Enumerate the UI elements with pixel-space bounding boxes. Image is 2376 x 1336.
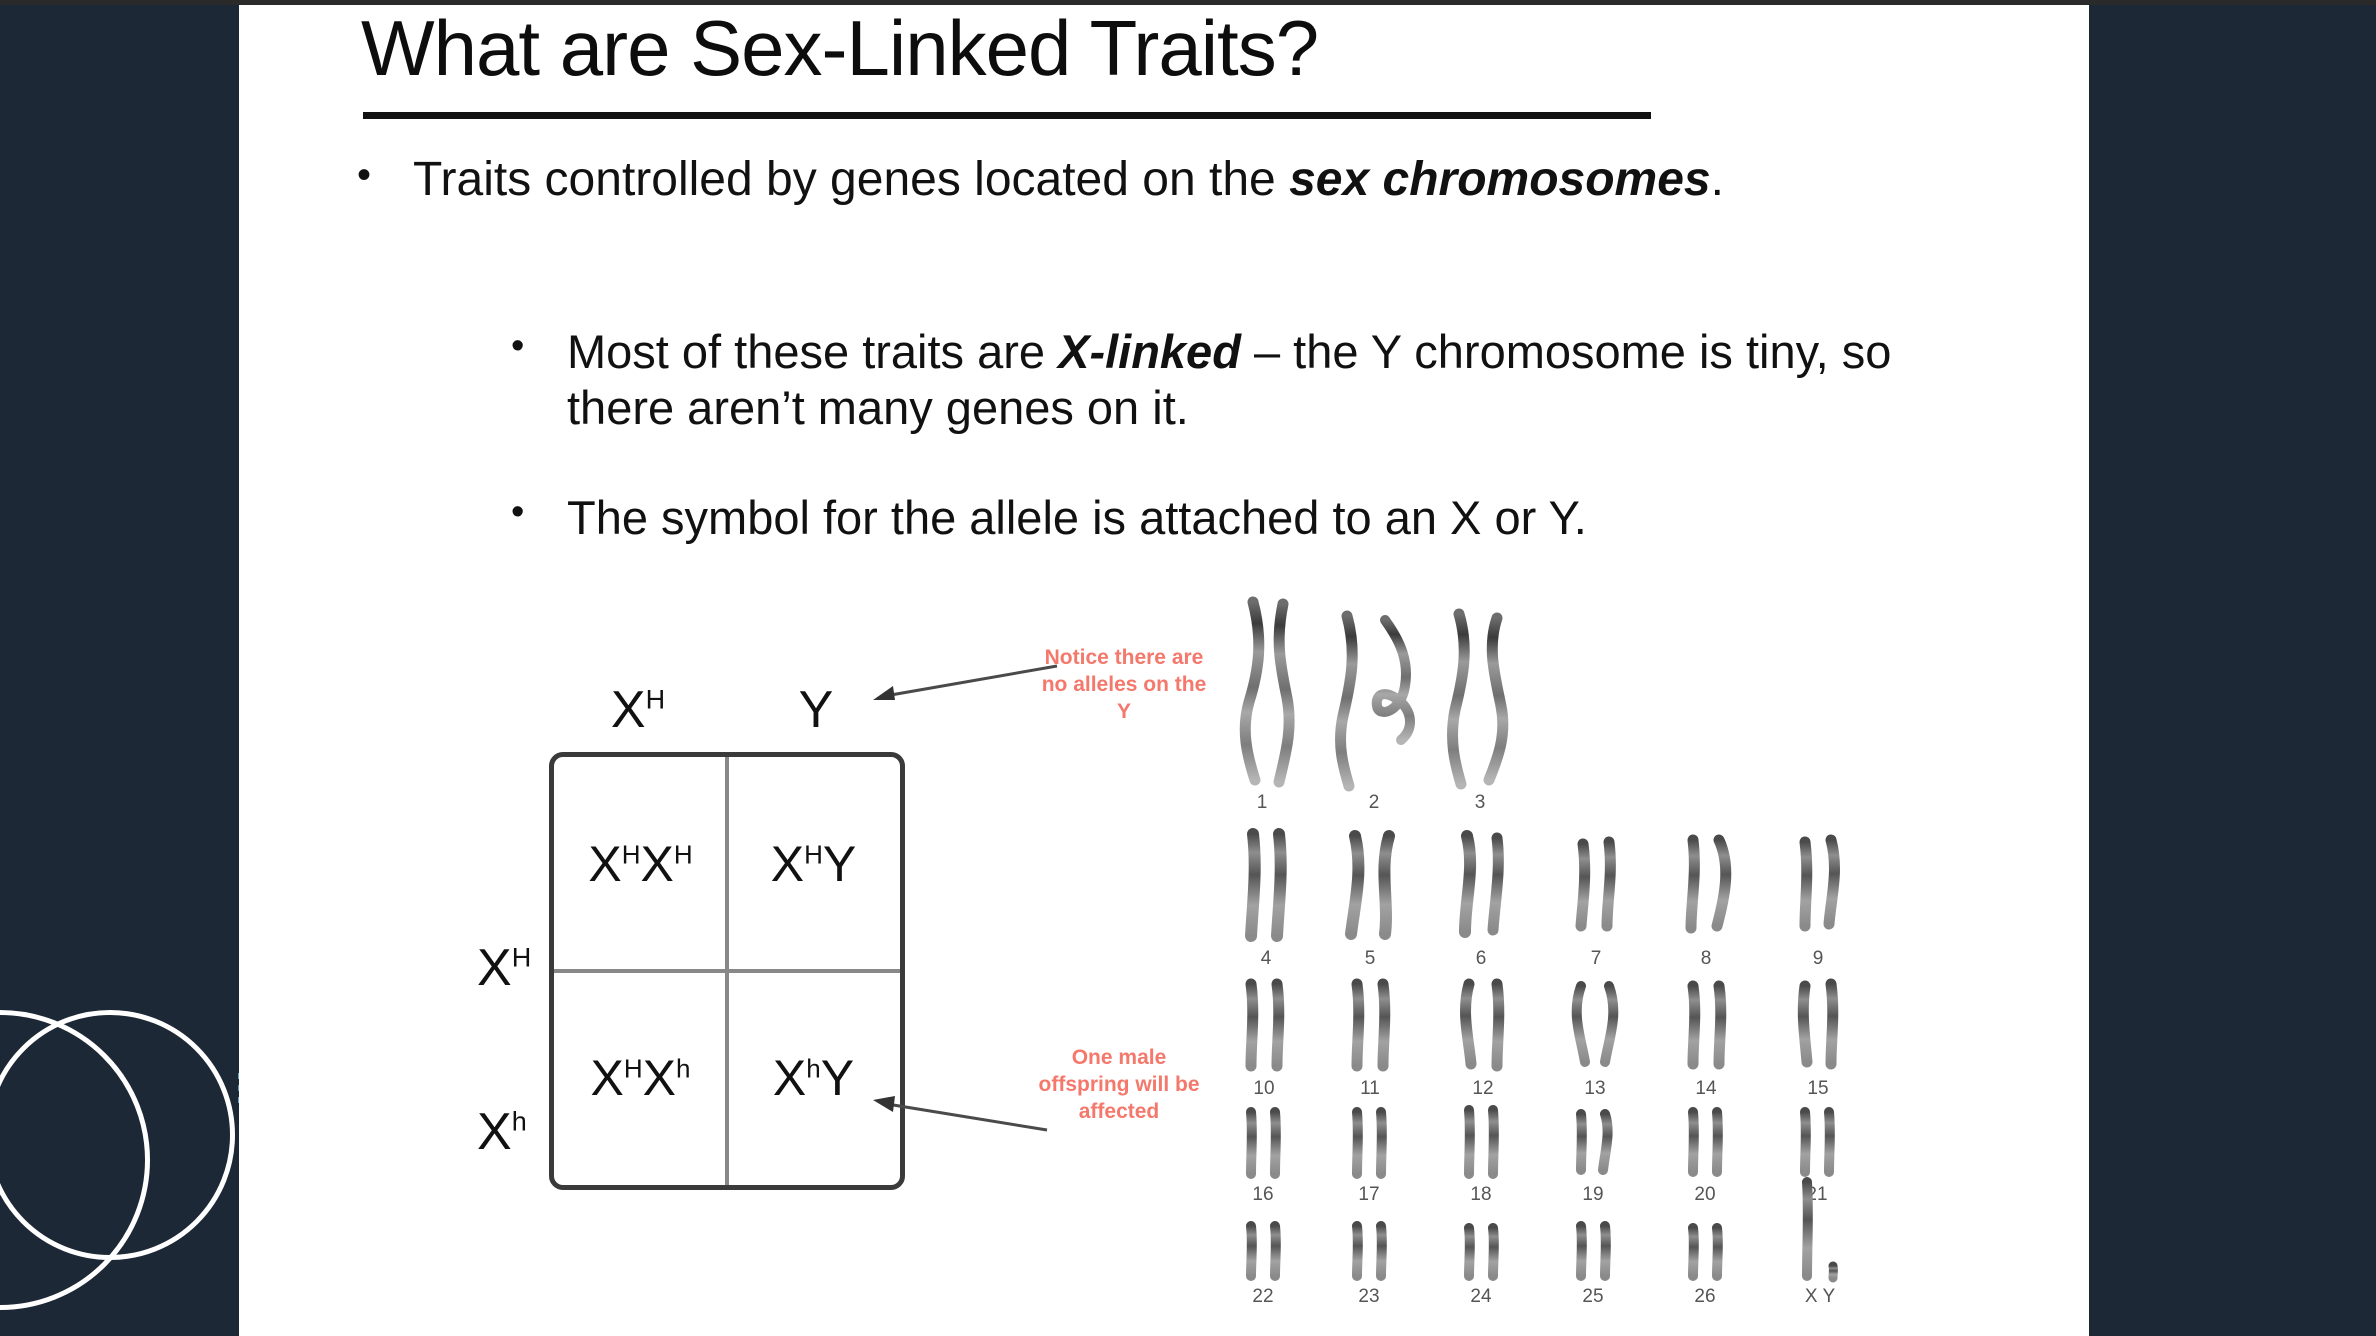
bullet2-part-pre: Most of these traits are xyxy=(567,325,1058,378)
bullet-level2-first-text: Most of these traits are X-linked – the … xyxy=(567,324,1931,437)
row1-base: X xyxy=(477,1103,512,1161)
svg-text:4: 4 xyxy=(1261,948,1272,969)
punnett-cell-0-0: XHXH xyxy=(554,757,727,971)
svg-text:15: 15 xyxy=(1807,1078,1828,1099)
svg-text:20: 20 xyxy=(1694,1184,1715,1205)
svg-text:23: 23 xyxy=(1358,1286,1379,1307)
cell01-g1-base: X xyxy=(771,836,804,892)
col0-base: X xyxy=(611,681,646,739)
svg-text:X Y: X Y xyxy=(1805,1286,1836,1307)
annotation-arrow-to-male-offspring-icon xyxy=(869,1090,1049,1140)
bullet-level2-second: • The symbol for the allele is attached … xyxy=(511,490,1931,546)
annotation-no-alleles-on-y: Notice there are no alleles on the Y xyxy=(1039,645,1209,726)
cell01-g1-superscript: H xyxy=(804,839,823,869)
svg-text:14: 14 xyxy=(1695,1078,1717,1099)
svg-text:2: 2 xyxy=(1369,792,1380,813)
bullet-marker-icon: • xyxy=(357,152,371,199)
col0-superscript: H xyxy=(646,685,666,715)
cell00-g2-superscript: H xyxy=(674,839,693,869)
annotation-arrow-to-y-icon xyxy=(869,660,1059,710)
punnett-cell-1-0: XHXh xyxy=(554,971,727,1185)
punnett-square-diagram: XH Y XH Xh XHXH XHY XH xyxy=(249,610,949,1230)
cell11-g2-base: Y xyxy=(821,1050,854,1106)
cell00-g1-base: X xyxy=(588,836,621,892)
row0-base: X xyxy=(477,939,512,997)
annotation-one-male-affected: One male offspring will be affected xyxy=(1034,1045,1204,1126)
svg-text:18: 18 xyxy=(1470,1184,1491,1205)
bullet1-part-emphasis: sex chromosomes xyxy=(1289,153,1711,206)
slide-canvas: What are Sex-Linked Traits? • Traits con… xyxy=(239,0,2089,1336)
cell10-g1-superscript: H xyxy=(624,1053,643,1083)
punnett-row-header-0: XH xyxy=(477,938,531,998)
cell11-g1-base: X xyxy=(773,1050,806,1106)
svg-text:26: 26 xyxy=(1694,1286,1715,1307)
svg-text:17: 17 xyxy=(1358,1184,1379,1205)
svg-text:8: 8 xyxy=(1701,948,1712,969)
svg-text:6: 6 xyxy=(1476,948,1487,969)
bullet1-part-pre: Traits controlled by genes located on th… xyxy=(413,153,1289,206)
svg-text:1: 1 xyxy=(1257,792,1268,813)
bullet2-part-emphasis: X-linked xyxy=(1058,325,1241,378)
cell10-g1-base: X xyxy=(591,1050,624,1106)
svg-text:11: 11 xyxy=(1360,1078,1380,1099)
cell11-g1-superscript: h xyxy=(806,1053,820,1083)
bullet-level1-text: Traits controlled by genes located on th… xyxy=(413,152,1777,209)
cell00-g1-superscript: H xyxy=(622,839,641,869)
svg-text:12: 12 xyxy=(1472,1078,1493,1099)
svg-text:3: 3 xyxy=(1475,792,1486,813)
cell01-g2-base: Y xyxy=(823,836,856,892)
svg-text:9: 9 xyxy=(1813,948,1824,969)
presentation-stage: What are Sex-Linked Traits? • Traits con… xyxy=(0,0,2376,1336)
svg-text:22: 22 xyxy=(1252,1286,1273,1307)
punnett-cell-0-1: XHY xyxy=(727,757,900,971)
row1-superscript: h xyxy=(512,1107,527,1137)
title-underline xyxy=(363,112,1651,119)
bullet-marker-icon: • xyxy=(511,324,524,370)
bullet-level2-first: • Most of these traits are X-linked – th… xyxy=(511,324,1931,437)
svg-text:13: 13 xyxy=(1584,1078,1605,1099)
decorative-circle-outline-right xyxy=(0,1010,235,1260)
svg-text:24: 24 xyxy=(1470,1286,1492,1307)
page-title: What are Sex-Linked Traits? xyxy=(361,8,1318,90)
punnett-cell-1-1: XhY xyxy=(727,971,900,1185)
bullet-marker-icon: • xyxy=(511,490,524,536)
punnett-row-header-1: Xh xyxy=(477,1102,527,1162)
svg-text:25: 25 xyxy=(1582,1286,1603,1307)
karyotype-chromosomes-icon: 1 2 3 4 xyxy=(1229,590,2049,1310)
bullet-level2-second-text: The symbol for the allele is attached to… xyxy=(567,490,1931,546)
svg-text:16: 16 xyxy=(1252,1184,1273,1205)
svg-text:7: 7 xyxy=(1591,948,1602,969)
karyotype-figure: 1 2 3 4 xyxy=(1229,590,2049,1310)
svg-text:19: 19 xyxy=(1582,1184,1603,1205)
svg-text:10: 10 xyxy=(1253,1078,1274,1099)
bullet1-part-post: . xyxy=(1711,153,1724,206)
punnett-column-header-0: XH xyxy=(549,680,727,740)
col1-base: Y xyxy=(799,681,834,739)
punnett-grid: XHXH XHY XHXh XhY xyxy=(549,752,905,1190)
top-edge-strip xyxy=(0,0,2376,5)
cell10-g2-base: X xyxy=(643,1050,676,1106)
svg-text:5: 5 xyxy=(1365,948,1376,969)
row0-superscript: H xyxy=(512,943,532,973)
bullet-level1: • Traits controlled by genes located on … xyxy=(357,152,1777,209)
cell00-g2-base: X xyxy=(641,836,674,892)
cell10-g2-superscript: h xyxy=(676,1053,690,1083)
